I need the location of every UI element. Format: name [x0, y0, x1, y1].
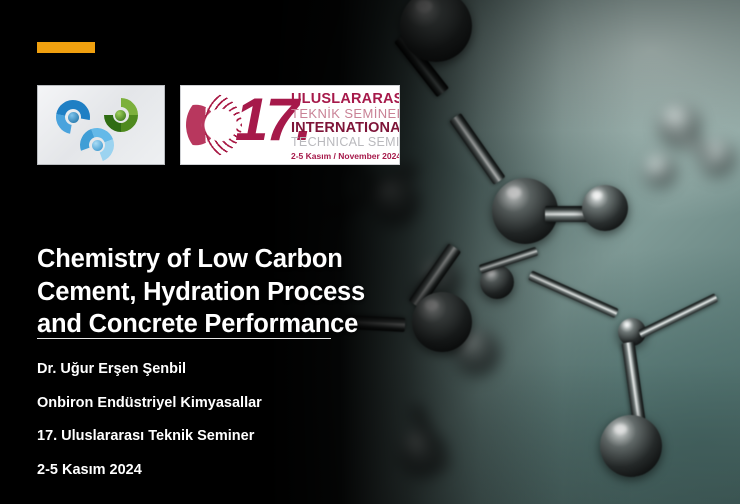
green-dot-icon [115, 110, 126, 121]
seminar-logo: 17. ULUSLARARASI TEKNİK SEMİNER INTERNAT… [180, 85, 400, 165]
seminar-text-block: ULUSLARARASI TEKNİK SEMİNER INTERNATIONA… [291, 92, 399, 165]
slide-meta: Dr. Uğur Erşen Şenbil Onbiron Endüstriye… [37, 362, 457, 496]
presenter-name: Dr. Uğur Erşen Şenbil [37, 362, 457, 377]
seminar-line-location: Antalya - Turkey [291, 162, 399, 165]
organization-name: Onbiron Endüstriyel Kimyasallar [37, 396, 457, 411]
title-line-3: and Concrete Performance [37, 308, 437, 341]
title-line-2: Cement, Hydration Process [37, 276, 437, 309]
seminar-line-dates: 2-5 Kasım / November 2024, [291, 151, 399, 162]
presentation-slide: 17. ULUSLARARASI TEKNİK SEMİNER INTERNAT… [0, 0, 740, 504]
accent-bar [37, 42, 95, 53]
title-line-1: Chemistry of Low Carbon [37, 243, 437, 276]
seminar-line-teknik-seminer: TEKNİK SEMİNER [291, 107, 399, 121]
title-divider [37, 338, 331, 339]
seminar-line-uluslararasi: ULUSLARARASI [291, 92, 399, 107]
dotted-globe-icon [186, 94, 242, 156]
event-date: 2-5 Kasım 2024 [37, 463, 457, 478]
onbiron-logo [37, 85, 165, 165]
seminar-line-technical-seminar: TECHNICAL SEMINAR [291, 136, 399, 149]
event-name: 17. Uluslararası Teknik Seminer [37, 429, 457, 444]
slide-title: Chemistry of Low Carbon Cement, Hydratio… [37, 243, 437, 341]
seminar-line-international: INTERNATIONAL [291, 121, 399, 136]
cyan-dot-icon [92, 140, 103, 151]
blue-dot-icon [68, 112, 79, 123]
